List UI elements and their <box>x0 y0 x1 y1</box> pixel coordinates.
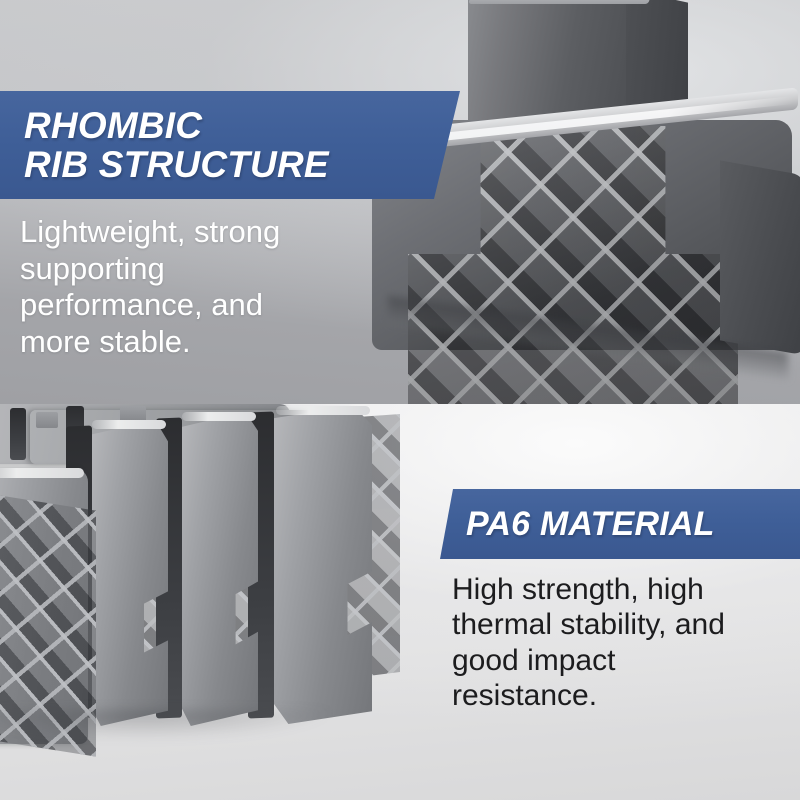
fin-3-top-edge <box>182 412 256 421</box>
block-stem-top-cap <box>468 0 655 4</box>
product-feature-infographic: RHOMBIC RIB STRUCTURE Lightweight, stron… <box>0 0 800 800</box>
fin-4 <box>270 406 372 724</box>
feature-panel-rhombic-rib-structure: RHOMBIC RIB STRUCTURE Lightweight, stron… <box>0 0 800 404</box>
feature-banner-title: PA6 MATERIAL <box>466 506 715 542</box>
feature-description-pa6-material: High strength, high thermal stability, a… <box>452 572 792 714</box>
fin-4-top-edge <box>276 406 370 415</box>
fin-3 <box>178 412 258 726</box>
feature-panel-pa6-material: PA6 MATERIAL High strength, high thermal… <box>0 404 800 800</box>
feature-banner-rhombic-rib-structure: RHOMBIC RIB STRUCTURE <box>0 91 460 199</box>
block-right-end-face <box>720 160 800 355</box>
fin-2-top-edge <box>92 420 166 429</box>
fin-1-top-edge <box>0 468 84 478</box>
product-image-finned-lattice-block <box>0 404 440 744</box>
product-bottom-drop-shadow <box>0 710 400 750</box>
product-image-rhombic-rib-block <box>368 0 800 404</box>
feature-description-rhombic-rib-structure: Lightweight, strong supporting performan… <box>20 214 350 360</box>
fin-rear-notch-1 <box>36 412 58 428</box>
fin-rear-slot-1 <box>10 408 26 460</box>
feature-banner-title: RHOMBIC RIB STRUCTURE <box>24 106 329 184</box>
rhombic-block-shell <box>368 0 800 404</box>
fin-2 <box>88 420 168 726</box>
feature-banner-pa6-material: PA6 MATERIAL <box>440 489 800 559</box>
